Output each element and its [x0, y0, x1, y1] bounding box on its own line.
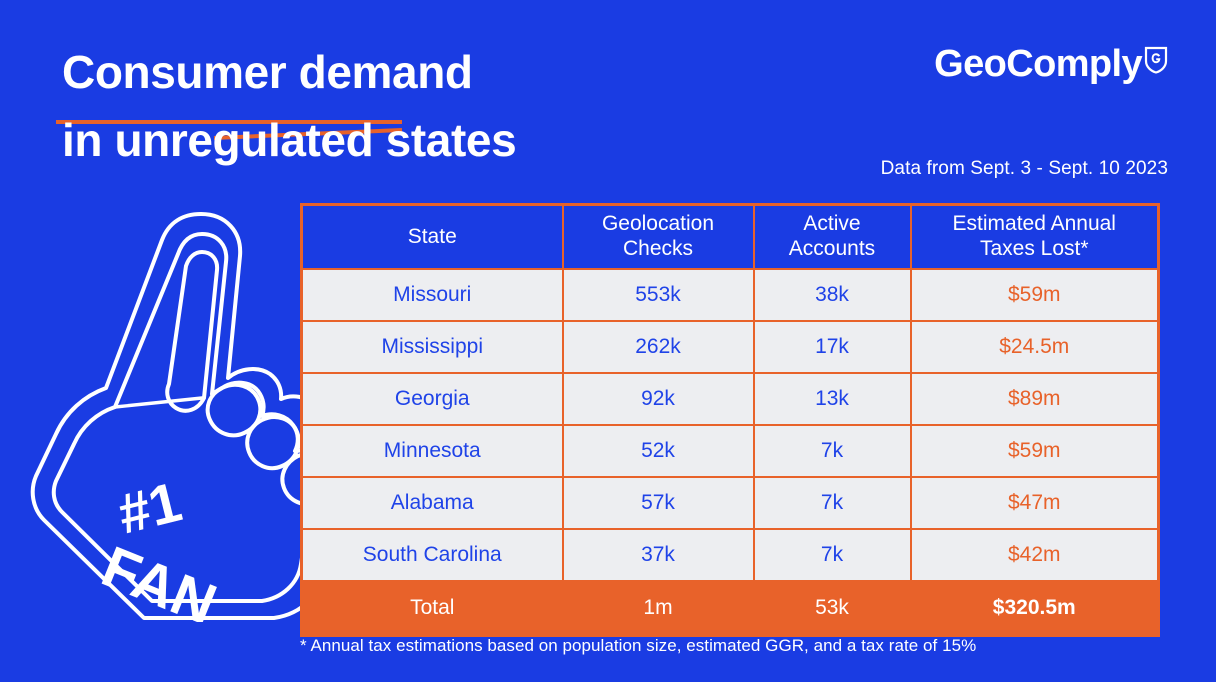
geocomply-logo: GeoComply: [934, 45, 1168, 83]
logo-wordmark: GeoComply: [934, 45, 1142, 83]
cell-geolocation-checks: 57k: [563, 477, 754, 529]
cell-total-label: Total: [302, 581, 563, 636]
cell-total-taxes-lost: $320.5m: [911, 581, 1159, 636]
cell-active-accounts: 38k: [754, 269, 911, 321]
page-title: Consumer demand in unregulated states: [62, 38, 682, 174]
cell-active-accounts: 17k: [754, 321, 911, 373]
column-header-active-accounts: Active Accounts: [754, 205, 911, 270]
table-row: Alabama 57k 7k $47m: [302, 477, 1159, 529]
table-header: State Geolocation Checks Active Accounts…: [302, 205, 1159, 270]
cell-taxes-lost: $47m: [911, 477, 1159, 529]
title-line-1: Consumer demand: [62, 38, 682, 106]
cell-active-accounts: 7k: [754, 529, 911, 581]
foam-finger-fan-text: FAN: [93, 534, 225, 622]
cell-state: Mississippi: [302, 321, 563, 373]
table-header-row: State Geolocation Checks Active Accounts…: [302, 205, 1159, 270]
column-header-geolocation-checks: Geolocation Checks: [563, 205, 754, 270]
cell-state: Minnesota: [302, 425, 563, 477]
cell-geolocation-checks: 52k: [563, 425, 754, 477]
cell-taxes-lost: $24.5m: [911, 321, 1159, 373]
demand-table-container: State Geolocation Checks Active Accounts…: [300, 203, 1157, 637]
cell-active-accounts: 7k: [754, 425, 911, 477]
table-row: Minnesota 52k 7k $59m: [302, 425, 1159, 477]
table-body: Missouri 553k 38k $59m Mississippi 262k …: [302, 269, 1159, 636]
cell-active-accounts: 7k: [754, 477, 911, 529]
column-header-state: State: [302, 205, 563, 270]
cell-geolocation-checks: 92k: [563, 373, 754, 425]
cell-taxes-lost: $42m: [911, 529, 1159, 581]
cell-state: Missouri: [302, 269, 563, 321]
cell-geolocation-checks: 37k: [563, 529, 754, 581]
title-line-2: in unregulated states: [62, 106, 682, 174]
cell-active-accounts: 13k: [754, 373, 911, 425]
cell-state: Georgia: [302, 373, 563, 425]
cell-taxes-lost: $89m: [911, 373, 1159, 425]
cell-taxes-lost: $59m: [911, 425, 1159, 477]
foam-finger-number-text: #1: [112, 469, 188, 545]
demand-table: State Geolocation Checks Active Accounts…: [300, 203, 1160, 637]
cell-geolocation-checks: 262k: [563, 321, 754, 373]
cell-state: Alabama: [302, 477, 563, 529]
data-date-range: Data from Sept. 3 - Sept. 10 2023: [881, 158, 1168, 180]
table-total-row: Total 1m 53k $320.5m: [302, 581, 1159, 636]
cell-taxes-lost: $59m: [911, 269, 1159, 321]
cell-state: South Carolina: [302, 529, 563, 581]
table-row: South Carolina 37k 7k $42m: [302, 529, 1159, 581]
table-row: Georgia 92k 13k $89m: [302, 373, 1159, 425]
cell-total-geolocation-checks: 1m: [563, 581, 754, 636]
table-row: Missouri 553k 38k $59m: [302, 269, 1159, 321]
shield-icon: [1144, 46, 1168, 74]
table-row: Mississippi 262k 17k $24.5m: [302, 321, 1159, 373]
column-header-estimated-taxes-lost: Estimated Annual Taxes Lost*: [911, 205, 1159, 270]
cell-geolocation-checks: 553k: [563, 269, 754, 321]
table-footnote: * Annual tax estimations based on popula…: [300, 636, 976, 656]
cell-total-active-accounts: 53k: [754, 581, 911, 636]
